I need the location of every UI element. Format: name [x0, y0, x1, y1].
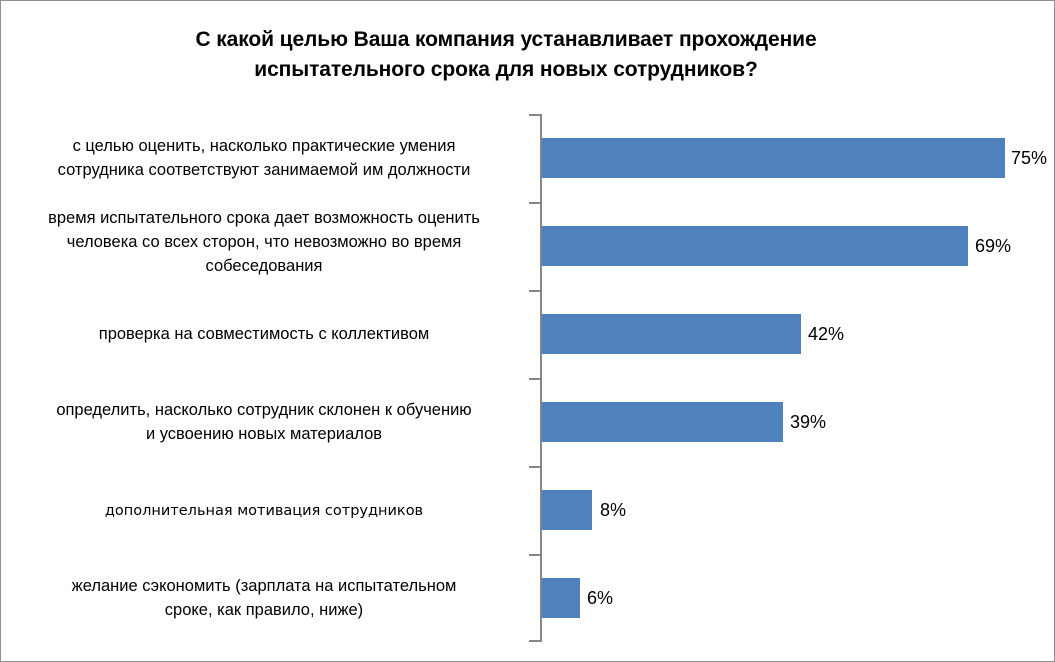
- category-label-line: человека со всех сторон, что невозможно …: [9, 230, 519, 254]
- category-axis-label: желание сэкономить (зарплата на испытате…: [9, 574, 519, 622]
- bar-value-label: 6%: [587, 588, 613, 608]
- chart-category-band: с целью оценить, насколько практические …: [1, 114, 1055, 202]
- category-axis-label: с целью оценить, насколько практические …: [9, 134, 519, 182]
- bar-series-5[interactable]: [542, 490, 592, 530]
- bar-series-4[interactable]: [542, 402, 783, 442]
- category-label-line: сроке, как правило, ниже): [9, 598, 519, 622]
- category-label-line: с целью оценить, насколько практические …: [9, 134, 519, 158]
- bar-value-label: 42%: [808, 324, 844, 344]
- category-label-line: сотрудника соответствуют занимаемой им д…: [9, 158, 519, 182]
- bar-series-6[interactable]: [542, 578, 580, 618]
- chart-category-band: определить, насколько сотрудник склонен …: [1, 378, 1055, 466]
- plot-area: с целью оценить, насколько практические …: [1, 1, 1055, 662]
- category-label-line: дополнительная мотивация сотрудников: [9, 499, 519, 523]
- bar-value-label: 69%: [975, 236, 1011, 256]
- category-axis-label: проверка на совместимость с коллективом: [9, 322, 519, 346]
- bar-series-1[interactable]: [542, 138, 1005, 178]
- category-label-line: собеседования: [9, 254, 519, 278]
- chart-category-band: дополнительная мотивация сотрудников 8%: [1, 466, 1055, 554]
- category-label-line: проверка на совместимость с коллективом: [9, 322, 519, 346]
- category-axis-label: определить, насколько сотрудник склонен …: [9, 398, 519, 446]
- bar-series-3[interactable]: [542, 314, 801, 354]
- bar-value-label: 39%: [790, 412, 826, 432]
- category-label-line: время испытательного срока дает возможно…: [9, 206, 519, 230]
- chart-category-band: желание сэкономить (зарплата на испытате…: [1, 554, 1055, 642]
- category-label-line: желание сэкономить (зарплата на испытате…: [9, 574, 519, 598]
- chart-container: С какой целью Ваша компания устанавливае…: [0, 0, 1055, 662]
- bar-value-label: 75%: [1011, 148, 1047, 168]
- category-axis-label: время испытательного срока дает возможно…: [9, 206, 519, 278]
- category-axis-label: дополнительная мотивация сотрудников: [9, 499, 519, 523]
- category-label-line: определить, насколько сотрудник склонен …: [9, 398, 519, 422]
- bar-value-label: 8%: [600, 500, 626, 520]
- category-label-line: и усвоению новых материалов: [9, 422, 519, 446]
- chart-category-band: время испытательного срока дает возможно…: [1, 202, 1055, 290]
- bar-series-2[interactable]: [542, 226, 968, 266]
- chart-category-band: проверка на совместимость с коллективом …: [1, 290, 1055, 378]
